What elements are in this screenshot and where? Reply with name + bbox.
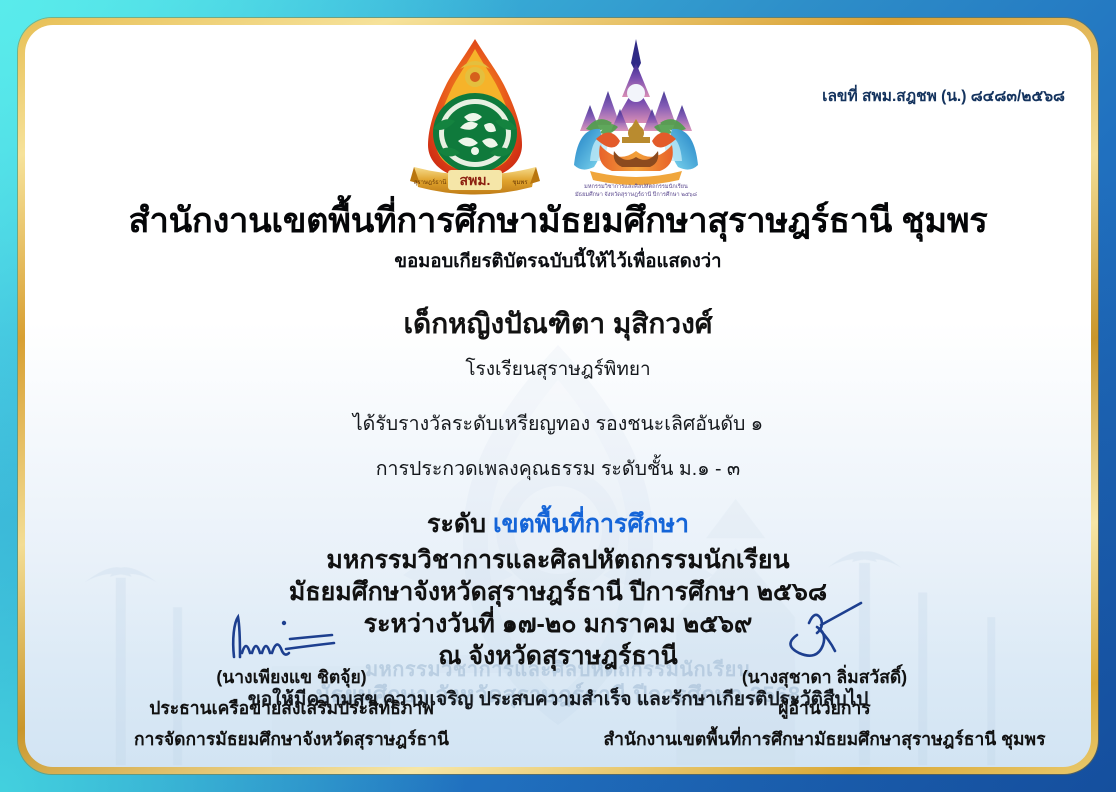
spm-emblem-logo: สพม. สุราษฎร์ธานี ชุมพร xyxy=(400,33,550,198)
recipient-name: เด็กหญิงปัณฑิตา มุสิกวงศ์ xyxy=(25,302,1091,346)
festival-emblem-logo: มหกรรมวิชาการและศิลปหัตถกรรมนักเรียน มัธ… xyxy=(556,33,716,201)
award-level-line: ระดับ เขตพื้นที่การศึกษา xyxy=(25,504,1091,544)
logo-row: สพม. สุราษฎร์ธานี ชุมพร xyxy=(25,33,1091,201)
certificate-sheet: มหกรรมวิชาการและศิลปหัตถกรรมนักเรียน มัธ… xyxy=(25,25,1091,767)
signature-org-right: สำนักงานเขตพื้นที่การศึกษามัธยมศึกษาสุรา… xyxy=(579,725,1069,753)
signature-mark-left xyxy=(46,609,536,661)
signature-role-right: ผู้อำนวยการ xyxy=(579,694,1069,722)
svg-text:มัธยมศึกษา จังหวัดสุราษฎร์ธานี: มัธยมศึกษา จังหวัดสุราษฎร์ธานี ปีการศึกษ… xyxy=(575,190,697,198)
signature-block-left: (นางเพียงแข ชิตจุ้ย) ประธานเครือข่ายส่งเ… xyxy=(46,609,536,753)
certificate-subtitle: ขอมอบเกียรติบัตรฉบับนี้ให้ไว้เพื่อแสดงว่… xyxy=(25,247,1091,276)
svg-text:สพม.: สพม. xyxy=(460,172,491,188)
award-category: การประกวดเพลงคุณธรรม ระดับชั้น ม.๑ - ๓ xyxy=(25,453,1091,484)
signature-org-left: การจัดการมัธยมศึกษาจังหวัดสุราษฎร์ธานี xyxy=(46,725,536,753)
signature-name-left: (นางเพียงแข ชิตจุ้ย) xyxy=(46,663,536,691)
signature-mark-right xyxy=(579,609,1069,661)
event-line-1: มหกรรมวิชาการและศิลปหัตถกรรมนักเรียน xyxy=(25,544,1091,576)
recipient-school: โรงเรียนสุราษฎร์พิทยา xyxy=(25,354,1091,384)
svg-text:มหกรรมวิชาการและศิลปหัตถกรรมนั: มหกรรมวิชาการและศิลปหัตถกรรมนักเรียน xyxy=(584,183,688,190)
award-result: ได้รับรางวัลระดับเหรียญทอง รองชนะเลิศอัน… xyxy=(25,408,1091,439)
signature-block-right: (นางสุชาดา ลิ่มสวัสดิ์) ผู้อำนวยการ สำนั… xyxy=(579,609,1069,753)
award-level-value: เขตพื้นที่การศึกษา xyxy=(493,510,689,538)
award-level-prefix: ระดับ xyxy=(427,510,486,538)
signature-row: (นางเพียงแข ชิตจุ้ย) ประธานเครือข่ายส่งเ… xyxy=(25,609,1091,753)
svg-text:ชุมพร: ชุมพร xyxy=(512,179,528,186)
event-line-2: มัธยมศึกษาจังหวัดสุราษฎร์ธานี ปีการศึกษา… xyxy=(25,576,1091,608)
signature-name-right: (นางสุชาดา ลิ่มสวัสดิ์) xyxy=(579,663,1069,691)
svg-text:สุราษฎร์ธานี: สุราษฎร์ธานี xyxy=(414,178,447,186)
signature-role-left: ประธานเครือข่ายส่งเสริมประสิทธิภาพ xyxy=(46,694,536,722)
page-title: สำนักงานเขตพื้นที่การศึกษามัธยมศึกษาสุรา… xyxy=(25,201,1091,241)
certificate-gold-frame: มหกรรมวิชาการและศิลปหัตถกรรมนักเรียน มัธ… xyxy=(18,18,1098,774)
